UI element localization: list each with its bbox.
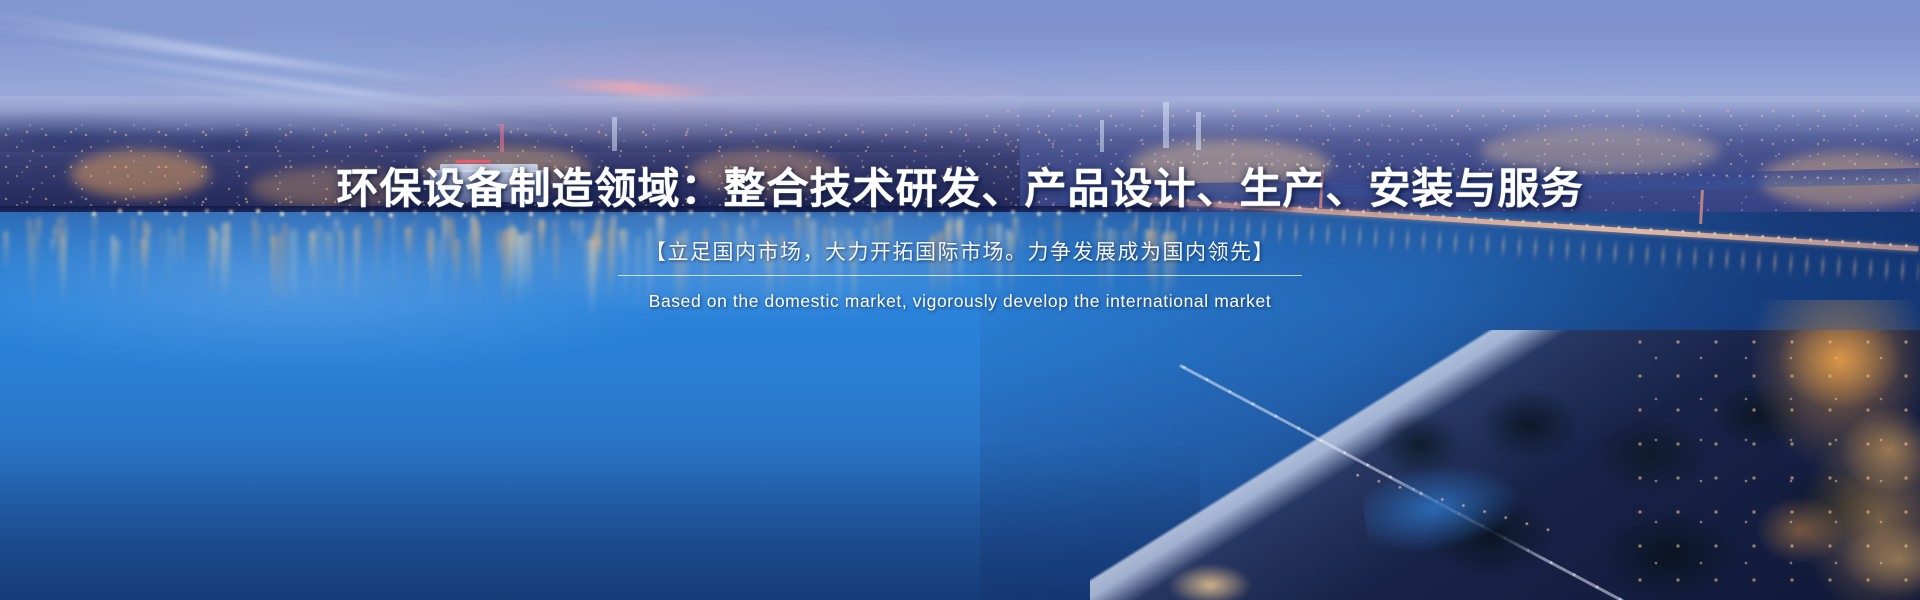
hero-banner: 环保设备制造领域：整合技术研发、产品设计、生产、安装与服务 【立足国内市场，大力… bbox=[0, 0, 1920, 600]
banner-subtitle: 【立足国内市场，大力开拓国际市场。力争发展成为国内领先】 bbox=[645, 236, 1275, 266]
text-divider bbox=[618, 275, 1302, 276]
banner-headline: 环保设备制造领域：整合技术研发、产品设计、生产、安装与服务 bbox=[336, 164, 1583, 214]
banner-english-tagline: Based on the domestic market, vigorously… bbox=[649, 291, 1272, 312]
banner-text-block: 环保设备制造领域：整合技术研发、产品设计、生产、安装与服务 【立足国内市场，大力… bbox=[0, 0, 1920, 600]
